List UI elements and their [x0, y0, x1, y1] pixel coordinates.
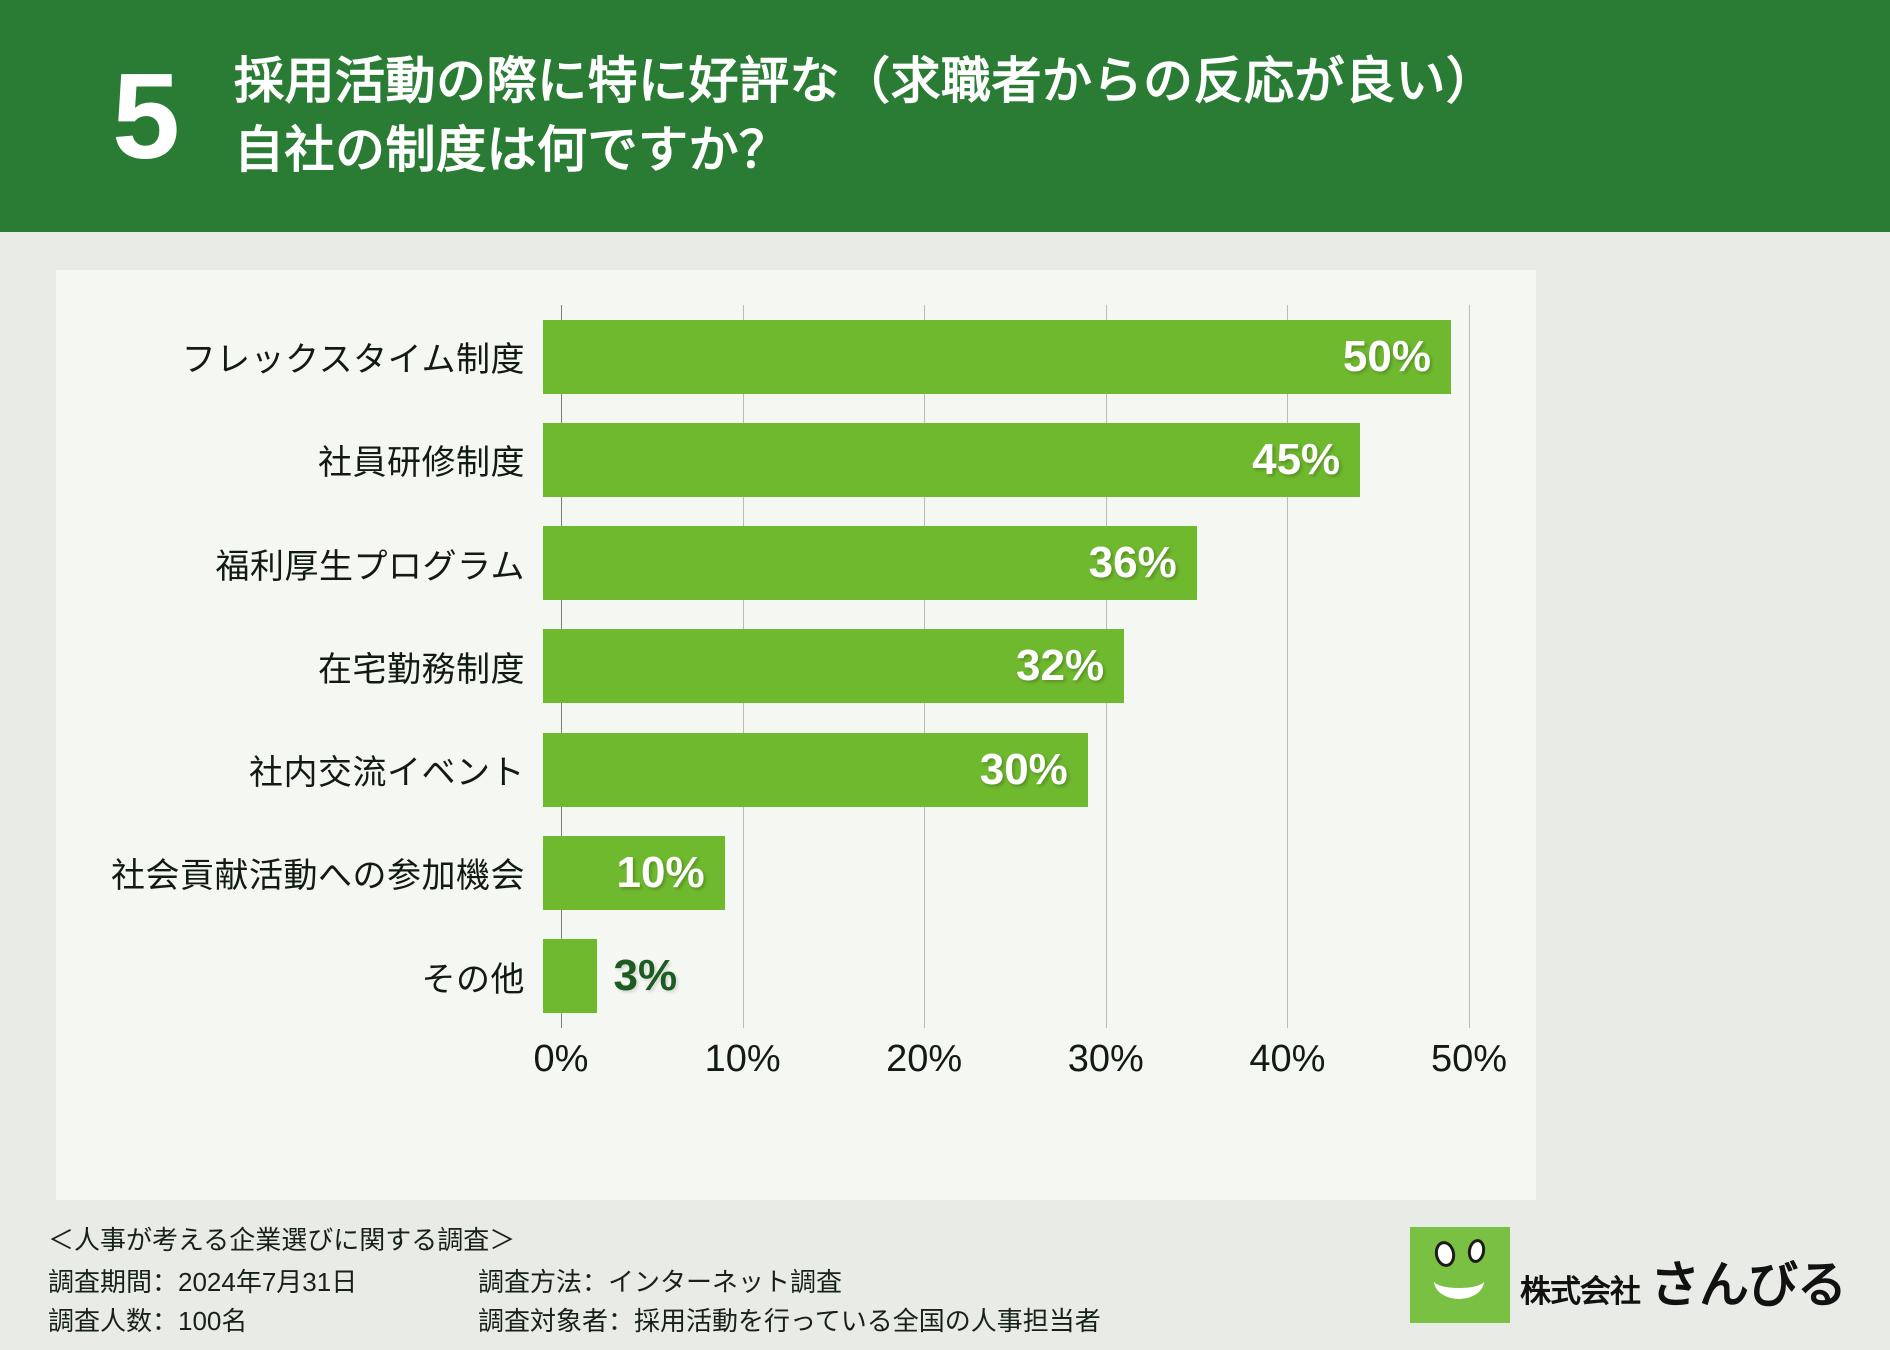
bar-area: 45% [543, 408, 1536, 511]
survey-title-line: ＜人事が考える企業選びに関する調査＞ [48, 1221, 1101, 1261]
survey-row-2: 調査人数：100名 調査対象者：採用活動を行っている全国の人事担当者 [48, 1302, 1101, 1342]
chart-row: その他3% [56, 925, 1536, 1028]
slide-page: 5 採用活動の際に特に好評な（求職者からの反応が良い） 自社の制度は何ですか？ … [0, 0, 1890, 1350]
x-tick-label: 10% [705, 1038, 781, 1081]
smiley-face-icon [1410, 1227, 1510, 1323]
survey-period: 調査期間：2024年7月31日 [48, 1263, 478, 1303]
bar-area: 10% [543, 821, 1536, 924]
chart-row: フレックスタイム制度50% [56, 305, 1536, 408]
bar-value-label: 50% [1343, 332, 1451, 382]
survey-method: 調査方法：インターネット調査 [478, 1263, 1101, 1303]
chart-row: 社員研修制度45% [56, 408, 1536, 511]
chart-rows: フレックスタイム制度50%社員研修制度45%福利厚生プログラム36%在宅勤務制度… [56, 305, 1536, 1028]
bar-area: 3% [543, 925, 1536, 1028]
question-title-line-2: 自社の制度は何ですか？ [234, 116, 1497, 185]
bar-chart: フレックスタイム制度50%社員研修制度45%福利厚生プログラム36%在宅勤務制度… [56, 270, 1536, 1200]
category-label: フレックスタイム制度 [56, 332, 543, 381]
category-label: 社員研修制度 [56, 435, 543, 484]
bar-value-label: 45% [1252, 435, 1360, 485]
bar[interactable]: 36% [543, 526, 1197, 600]
category-label: 福利厚生プログラム [56, 539, 543, 588]
survey-targets: 調査対象者：採用活動を行っている全国の人事担当者 [478, 1302, 1101, 1342]
x-axis: 0%10%20%30%40%50% [561, 1038, 1469, 1098]
bar-area: 50% [543, 305, 1536, 408]
question-header: 5 採用活動の際に特に好評な（求職者からの反応が良い） 自社の制度は何ですか？ [0, 0, 1890, 232]
x-tick-label: 40% [1249, 1038, 1325, 1081]
chart-row: 社内交流イベント30% [56, 718, 1536, 821]
survey-title: ＜人事が考える企業選びに関する調査＞ [48, 1221, 515, 1261]
x-tick-label: 50% [1431, 1038, 1507, 1081]
bar[interactable]: 3% [543, 939, 597, 1013]
bar-value-label: 30% [980, 745, 1088, 795]
question-title-line-1: 採用活動の際に特に好評な（求職者からの反応が良い） [234, 47, 1497, 116]
bar[interactable]: 30% [543, 733, 1088, 807]
bar[interactable]: 32% [543, 629, 1124, 703]
logo-company-name: さんびる [1640, 1245, 1846, 1317]
page-title: 採用活動の際に特に好評な（求職者からの反応が良い） 自社の制度は何ですか？ [220, 47, 1497, 185]
logo-wordmark: 株式会社 さんびる [1520, 1245, 1846, 1323]
category-label: 社会貢献活動への参加機会 [56, 848, 543, 897]
category-label: 在宅勤務制度 [56, 642, 543, 691]
chart-card: フレックスタイム制度50%社員研修制度45%福利厚生プログラム36%在宅勤務制度… [56, 270, 1536, 1200]
category-label: その他 [56, 952, 543, 1001]
bar[interactable]: 45% [543, 423, 1360, 497]
chart-row: 在宅勤務制度32% [56, 615, 1536, 718]
survey-row-1: 調査期間：2024年7月31日 調査方法：インターネット調査 [48, 1263, 1101, 1303]
bar[interactable]: 50% [543, 320, 1451, 394]
survey-count: 調査人数：100名 [48, 1302, 478, 1342]
footer: ＜人事が考える企業選びに関する調査＞ 調査期間：2024年7月31日 調査方法：… [0, 1215, 1890, 1350]
question-number: 5 [70, 55, 220, 177]
bar[interactable]: 10% [543, 836, 725, 910]
bar-value-label: 10% [617, 848, 725, 898]
company-logo: 株式会社 さんびる [1410, 1227, 1846, 1323]
bar-area: 36% [543, 512, 1536, 615]
smile-icon [1434, 1263, 1484, 1299]
category-label: 社内交流イベント [56, 745, 543, 794]
eye-right-icon [1466, 1238, 1487, 1265]
bar-value-label: 36% [1089, 538, 1197, 588]
x-tick-label: 30% [1068, 1038, 1144, 1081]
x-tick-label: 20% [886, 1038, 962, 1081]
survey-meta: ＜人事が考える企業選びに関する調査＞ 調査期間：2024年7月31日 調査方法：… [48, 1221, 1101, 1342]
bar-value-label: 3% [597, 951, 677, 1001]
x-tick-label: 0% [534, 1038, 589, 1081]
logo-company-prefix: 株式会社 [1520, 1266, 1640, 1311]
bar-area: 32% [543, 615, 1536, 718]
bar-area: 30% [543, 718, 1536, 821]
chart-row: 社会貢献活動への参加機会10% [56, 821, 1536, 924]
chart-row: 福利厚生プログラム36% [56, 512, 1536, 615]
bar-value-label: 32% [1016, 641, 1124, 691]
